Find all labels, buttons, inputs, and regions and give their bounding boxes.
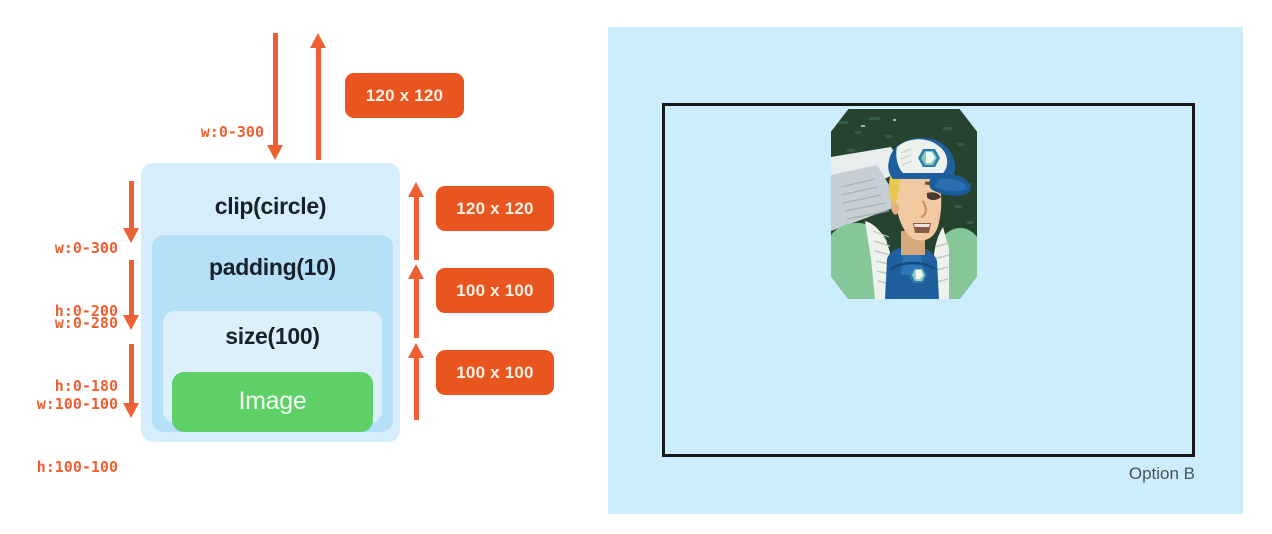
arrow-shaft: [273, 33, 278, 147]
arrow-head: [408, 182, 424, 197]
left-dimension-width-3: w:100-100: [8, 394, 118, 415]
left-dimension-width-1: w:0-300: [22, 238, 118, 259]
left-down-arrow-3: [123, 344, 140, 418]
left-down-arrow-1: [123, 181, 140, 243]
arrow-head: [310, 33, 326, 48]
arrow-head: [123, 403, 139, 418]
arrow-head: [408, 343, 424, 358]
arrow-head: [267, 145, 283, 160]
arrow-shaft: [414, 356, 419, 420]
top-down-arrow: [267, 33, 284, 160]
right-up-arrow-2: [408, 264, 425, 338]
right-up-arrow-1: [408, 182, 425, 260]
option-caption: Option B: [1129, 464, 1195, 484]
widget-box-padding-label: padding(10): [152, 254, 393, 281]
avatar-image: [831, 109, 977, 299]
arrow-shaft: [129, 344, 134, 405]
left-dimension-label-3: w:100-100 h:100-100: [8, 352, 118, 520]
badge-top-size: 120 x 120: [345, 73, 464, 118]
top-dimension-width: w:0-300: [168, 122, 264, 143]
widget-box-size-label: size(100): [163, 323, 382, 350]
badge-right-size-2: 100 x 100: [436, 268, 554, 313]
left-dimension-height-3: h:100-100: [8, 457, 118, 478]
widget-box-image: Image: [172, 372, 373, 432]
badge-right-size-1: 120 x 120: [436, 186, 554, 231]
arrow-shaft: [129, 181, 134, 230]
arrow-shaft: [414, 277, 419, 338]
option-preview-panel: Option B: [608, 27, 1243, 514]
arrow-shaft: [414, 195, 419, 260]
widget-box-clip-label: clip(circle): [141, 193, 400, 220]
right-up-arrow-3: [408, 343, 425, 420]
arrow-head: [123, 315, 139, 330]
arrow-shaft: [129, 260, 134, 317]
arrow-shaft: [316, 46, 321, 160]
arrow-head: [123, 228, 139, 243]
left-dimension-width-2: w:0-280: [22, 313, 118, 334]
left-down-arrow-2: [123, 260, 140, 330]
widget-box-image-label: Image: [172, 387, 373, 416]
top-up-arrow: [310, 33, 327, 160]
arrow-head: [408, 264, 424, 279]
layout-diagram: w:0-300 h:0-200 120 x 120 w:0-300 h:0-20…: [0, 0, 600, 534]
badge-right-size-3: 100 x 100: [436, 350, 554, 395]
